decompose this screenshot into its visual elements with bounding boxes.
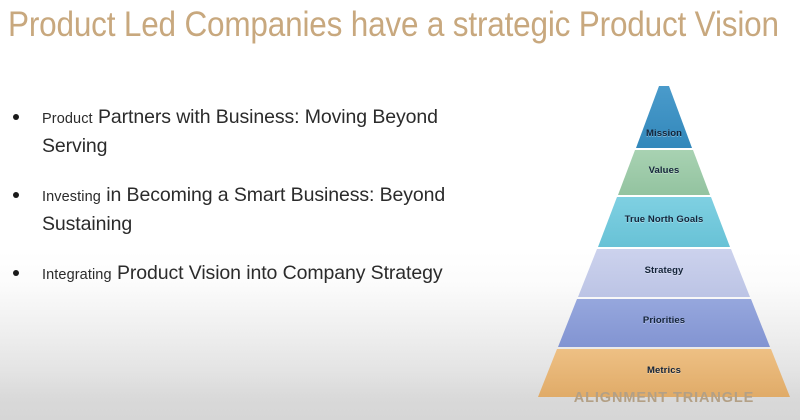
bullet-lead-word: Investing	[42, 189, 101, 205]
bullet-dot-icon	[13, 114, 19, 120]
bullet-dot-icon	[13, 192, 19, 198]
pyramid-level-shape	[514, 150, 800, 195]
pyramid-level-mission: Mission	[514, 86, 800, 148]
pyramid-level-shape	[514, 86, 800, 148]
bullet-list: Product Partners with Business: Moving B…	[0, 104, 500, 311]
bullet-rest-text: Product Vision into Company Strategy	[112, 262, 443, 284]
bullet-lead-word: Integrating	[42, 267, 112, 283]
pyramid-level-strategy: Strategy	[514, 249, 800, 297]
slide-title: Product Led Companies have a strategic P…	[8, 2, 714, 48]
pyramid-level-shape	[514, 249, 800, 297]
list-item: Investing in Becoming a Smart Business: …	[0, 182, 500, 238]
list-item: Integrating Product Vision into Company …	[0, 260, 500, 289]
list-item: Product Partners with Business: Moving B…	[0, 104, 500, 160]
bullet-lead-word: Product	[42, 111, 93, 127]
bullet-text: Investing in Becoming a Smart Business: …	[42, 184, 445, 235]
pyramid-level-shape	[514, 299, 800, 347]
pyramid-level-values: Values	[514, 150, 800, 195]
bullet-rest-text: Partners with Business: Moving Beyond Se…	[42, 106, 438, 157]
bullet-rest-text: in Becoming a Smart Business: Beyond Sus…	[42, 184, 445, 235]
diagram-caption: ALIGNMENT TRIANGLE	[514, 390, 800, 406]
pyramid-level-shape	[514, 197, 800, 247]
alignment-triangle-diagram: Mission Values	[514, 86, 800, 356]
bullet-dot-icon	[13, 270, 19, 276]
pyramid-level-true-north-goals: True North Goals	[514, 197, 800, 247]
bullet-text: Product Partners with Business: Moving B…	[42, 106, 438, 157]
pyramid-level-priorities: Priorities	[514, 299, 800, 347]
bullet-text: Integrating Product Vision into Company …	[42, 262, 443, 284]
slide-canvas: Product Led Companies have a strategic P…	[0, 0, 800, 420]
